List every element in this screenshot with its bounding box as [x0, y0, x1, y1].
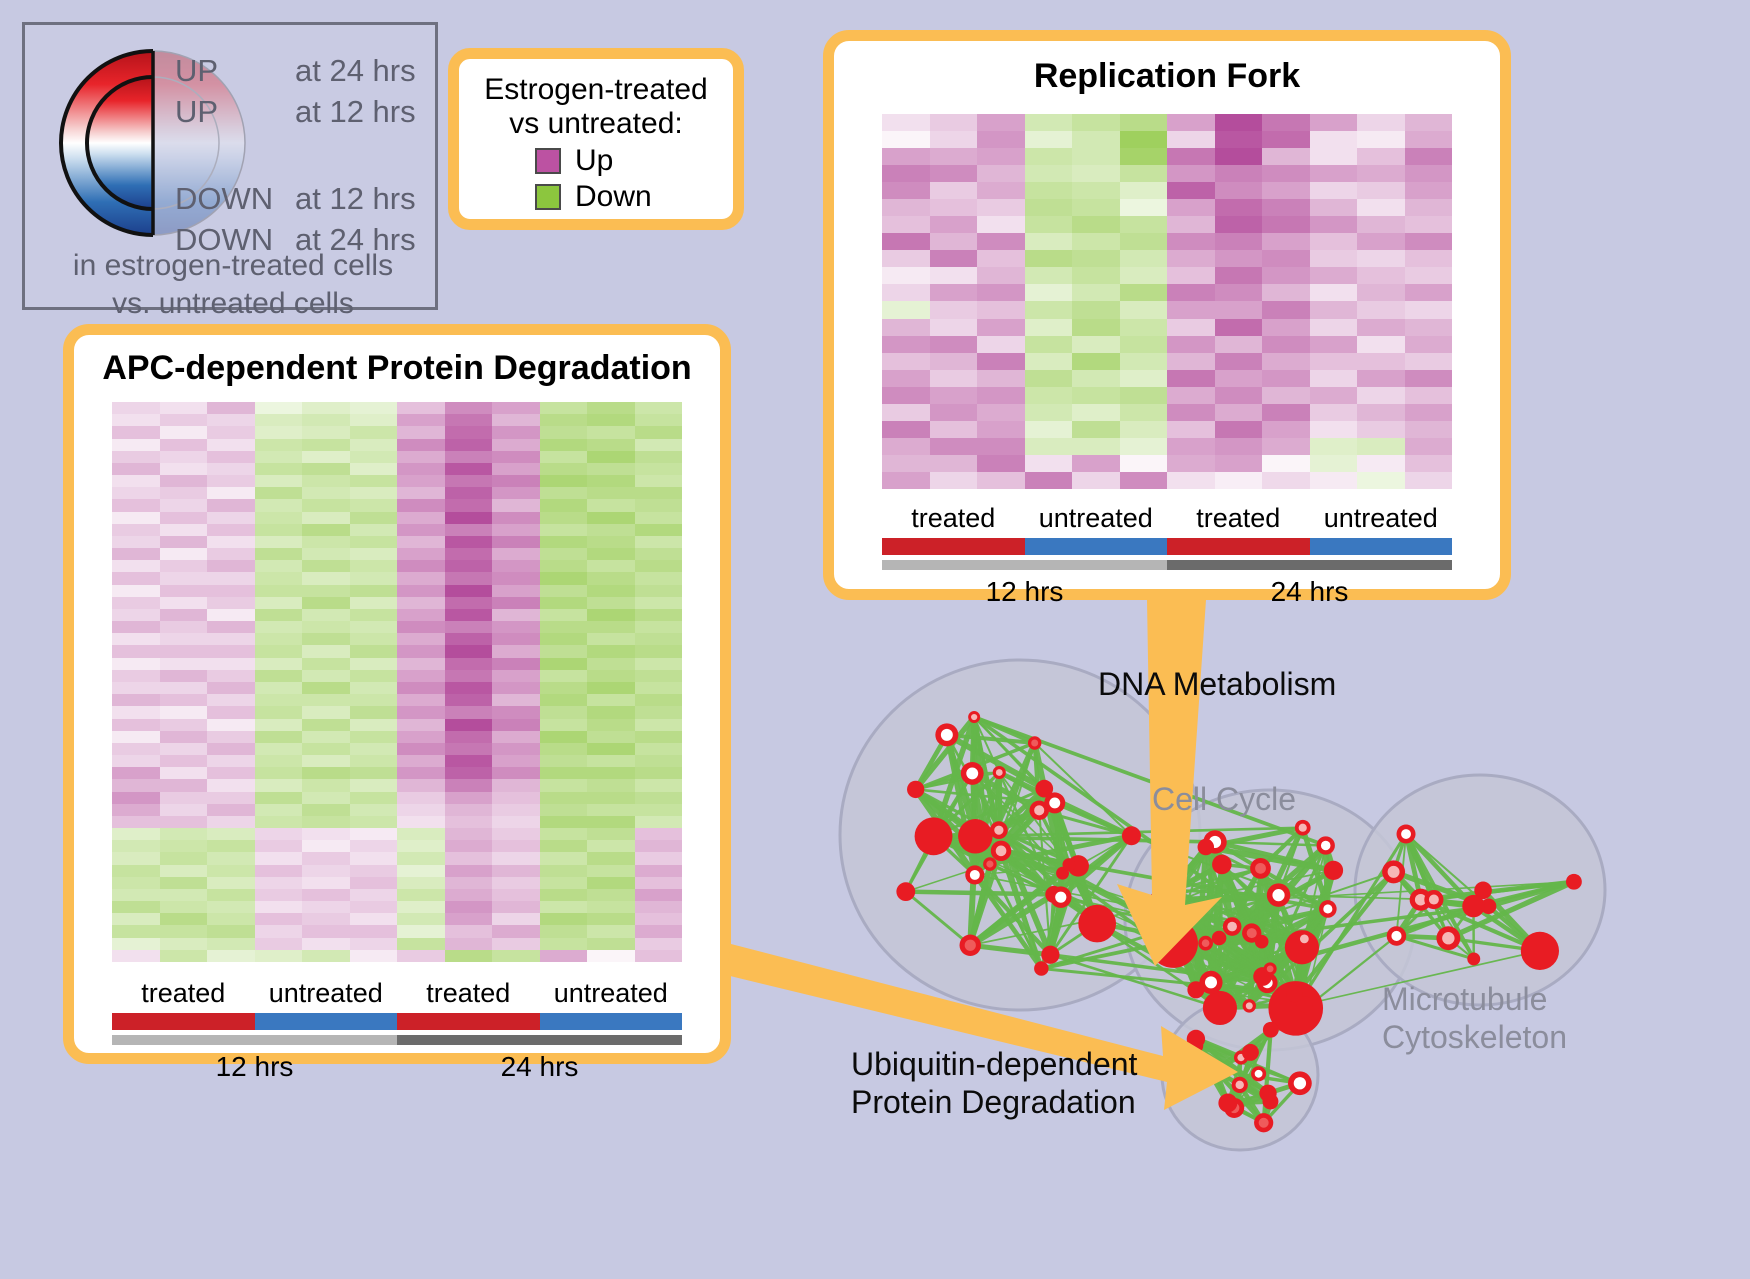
heatmap-cell	[207, 755, 255, 767]
heatmap-cell	[302, 512, 350, 524]
key-row: UP at 24 hrs	[175, 55, 435, 86]
heatmap-cell	[302, 828, 350, 840]
network-node[interactable]	[1397, 825, 1416, 844]
heatmap-cell	[1072, 182, 1120, 199]
heatmap-cell	[1357, 250, 1405, 267]
heatmap-cell	[350, 426, 398, 438]
heatmap-cell	[882, 148, 930, 165]
network-node[interactable]	[1062, 858, 1075, 871]
heatmap-cell	[1405, 472, 1453, 489]
heatmap-cell	[112, 548, 160, 560]
network-node[interactable]	[958, 819, 992, 853]
heatmap-cell	[1215, 319, 1263, 336]
heatmap-cell	[1215, 216, 1263, 233]
network-node[interactable]	[1187, 1030, 1205, 1048]
heatmap-cell	[160, 694, 208, 706]
heatmap-cell	[160, 658, 208, 670]
heatmap-cell	[207, 609, 255, 621]
heatmap-cell	[977, 421, 1025, 438]
heatmap-cell	[1310, 233, 1358, 250]
heatmap-cell	[397, 524, 445, 536]
node-inner-fill	[970, 870, 980, 880]
heatmap-cell	[207, 779, 255, 791]
heatmap-cell	[492, 463, 540, 475]
network-node[interactable]	[1387, 926, 1406, 945]
heatmap-cell	[1357, 199, 1405, 216]
network-node[interactable]	[1041, 946, 1059, 964]
network-node[interactable]	[1319, 900, 1337, 918]
network-node[interactable]	[961, 762, 984, 785]
micro-line-1: Microtubule	[1382, 980, 1567, 1018]
network-node[interactable]	[991, 841, 1011, 861]
apc-annotation: treated untreated treated untreated 12 h…	[112, 978, 682, 1083]
heatmap-cell	[397, 536, 445, 548]
heatmap-cell	[1262, 148, 1310, 165]
heatmap-cell	[540, 548, 588, 560]
network-node[interactable]	[1295, 820, 1311, 836]
heatmap-cell	[112, 524, 160, 536]
heatmap-cell	[160, 938, 208, 950]
heatmap-cell	[540, 426, 588, 438]
heatmap-cell	[1405, 284, 1453, 301]
heatmap-cell	[160, 767, 208, 779]
heatmap-cell	[445, 426, 493, 438]
heatmap-cell	[635, 609, 683, 621]
heatmap-cell	[882, 284, 930, 301]
heatmap-cell	[635, 767, 683, 779]
heatmap-cell	[255, 755, 303, 767]
network-node[interactable]	[1198, 839, 1215, 856]
heatmap-cell	[445, 621, 493, 633]
heatmap-cell	[302, 840, 350, 852]
heatmap-cell	[1025, 131, 1073, 148]
network-node[interactable]	[935, 723, 958, 746]
heatmap-cell	[492, 609, 540, 621]
heatmap-cell	[1167, 336, 1215, 353]
heatmap-cell	[445, 536, 493, 548]
heatmap-cell	[112, 585, 160, 597]
network-node[interactable]	[1203, 991, 1237, 1025]
heatmap-cell	[207, 451, 255, 463]
heatmap-cell	[635, 840, 683, 852]
heatmap-cell	[635, 925, 683, 937]
heatmap-cell	[302, 852, 350, 864]
heatmap-cell	[977, 131, 1025, 148]
heatmap-cell	[882, 370, 930, 387]
heatmap-cell	[255, 426, 303, 438]
heatmap-cell	[1072, 336, 1120, 353]
treatment-color-bar	[882, 538, 1452, 555]
network-node[interactable]	[1436, 926, 1460, 950]
network-node[interactable]	[1296, 930, 1313, 947]
heatmap-cell	[350, 865, 398, 877]
heatmap-cell	[445, 755, 493, 767]
heatmap-cell	[1072, 284, 1120, 301]
heatmap-cell	[350, 877, 398, 889]
heatmap-cell	[882, 267, 930, 284]
network-node[interactable]	[983, 857, 997, 871]
heatmap-cell	[207, 402, 255, 414]
heatmap-cell	[1357, 182, 1405, 199]
heatmap-cell	[397, 670, 445, 682]
heatmap-cell	[930, 284, 978, 301]
heatmap-cell	[1025, 284, 1073, 301]
heatmap-cell	[635, 877, 683, 889]
heatmap-cell	[1120, 284, 1168, 301]
network-node[interactable]	[896, 882, 915, 901]
heatmap-cell	[350, 719, 398, 731]
heatmap-cell	[492, 633, 540, 645]
heatmap-cell	[1215, 182, 1263, 199]
heatmap-cell	[302, 621, 350, 633]
network-node[interactable]	[1317, 836, 1335, 854]
node-inner-fill	[966, 767, 978, 779]
heatmap-cell	[1072, 421, 1120, 438]
heatmap-cell	[492, 572, 540, 584]
heatmap-cell	[540, 499, 588, 511]
heatmap-cell	[1310, 216, 1358, 233]
heatmap-cell	[635, 645, 683, 657]
heatmap-cell	[302, 536, 350, 548]
heatmap-cell	[1120, 455, 1168, 472]
network-node[interactable]	[1521, 932, 1559, 970]
heatmap-cell	[1215, 301, 1263, 318]
heatmap-cell	[1405, 148, 1453, 165]
heatmap-cell	[930, 387, 978, 404]
time-label: 24 hrs	[397, 1051, 682, 1083]
network-edge	[906, 892, 1054, 895]
heatmap-cell	[540, 767, 588, 779]
network-node[interactable]	[1029, 801, 1048, 820]
heatmap-cell	[397, 950, 445, 962]
heatmap-cell	[112, 560, 160, 572]
time-segment	[397, 1035, 682, 1045]
heatmap-cell	[302, 475, 350, 487]
legend-item-up: Up	[535, 146, 733, 176]
legend-item-down: Down	[535, 182, 733, 212]
network-node[interactable]	[1286, 986, 1302, 1002]
heatmap-cell	[587, 451, 635, 463]
network-node[interactable]	[1232, 1077, 1248, 1093]
heatmap-cell	[255, 645, 303, 657]
heatmap-cell	[397, 913, 445, 925]
heatmap-cell	[587, 402, 635, 414]
node-inner-fill	[1401, 829, 1411, 839]
heatmap-cell	[1167, 421, 1215, 438]
network-node[interactable]	[907, 781, 924, 798]
heatmap-cell	[882, 319, 930, 336]
heatmap-cell	[1310, 284, 1358, 301]
key-caption-line-2: vs. untreated cells	[25, 285, 441, 323]
heatmap-cell	[1120, 216, 1168, 233]
heatmap-cell	[445, 451, 493, 463]
heatmap-cell	[302, 682, 350, 694]
network-node[interactable]	[1149, 919, 1198, 968]
heatmap-cell	[302, 487, 350, 499]
heatmap-cell	[587, 755, 635, 767]
heatmap-cell	[302, 877, 350, 889]
heatmap-cell	[492, 439, 540, 451]
network-node[interactable]	[1198, 936, 1213, 951]
heatmap-cell	[930, 165, 978, 182]
heatmap-cell	[302, 950, 350, 962]
network-node[interactable]	[1212, 931, 1227, 946]
key-row: UP at 12 hrs	[175, 96, 435, 127]
heatmap-cell	[1357, 148, 1405, 165]
heatmap-cell	[492, 950, 540, 962]
heatmap-cell	[635, 743, 683, 755]
heatmap-cell	[1357, 284, 1405, 301]
heatmap-cell	[492, 767, 540, 779]
node-inner-fill	[1300, 934, 1309, 943]
heatmap-cell	[207, 852, 255, 864]
cluster-label-dna-metabolism: DNA Metabolism	[1098, 665, 1336, 703]
heatmap-cell	[587, 633, 635, 645]
network-node[interactable]	[1078, 905, 1116, 943]
heatmap-cell	[255, 828, 303, 840]
network-node[interactable]	[1267, 883, 1290, 906]
network-node[interactable]	[1218, 1094, 1237, 1113]
heatmap-cell	[492, 512, 540, 524]
network-node[interactable]	[1028, 736, 1041, 749]
heatmap-cell	[1310, 267, 1358, 284]
node-inner-fill	[1055, 892, 1066, 903]
heatmap-cell	[1167, 370, 1215, 387]
network-node[interactable]	[1288, 1071, 1312, 1095]
heatmap-cell	[1025, 370, 1073, 387]
network-node[interactable]	[1212, 855, 1232, 875]
heatmap-cell	[207, 658, 255, 670]
heatmap-cell	[977, 250, 1025, 267]
heatmap-cell	[587, 877, 635, 889]
heatmap-cell	[977, 472, 1025, 489]
network-node[interactable]	[1122, 826, 1141, 845]
heatmap-cell	[302, 597, 350, 609]
heatmap-cell	[1072, 131, 1120, 148]
network-node[interactable]	[1467, 952, 1480, 965]
heatmap-cell	[207, 560, 255, 572]
cluster-label-ubiquitin-degradation: Ubiquitin-dependent Protein Degradation	[851, 1045, 1137, 1122]
heatmap-cell	[112, 694, 160, 706]
network-node[interactable]	[1034, 961, 1048, 975]
heatmap-cell	[445, 779, 493, 791]
heatmap-cell	[540, 877, 588, 889]
heatmap-cell	[160, 889, 208, 901]
heatmap-cell	[445, 414, 493, 426]
heatmap-cell	[587, 597, 635, 609]
network-node[interactable]	[1242, 1044, 1259, 1061]
heatmap-cell	[207, 670, 255, 682]
heatmap-cell	[882, 250, 930, 267]
heatmap-cell	[397, 706, 445, 718]
heatmap-cell	[1310, 114, 1358, 131]
network-node[interactable]	[960, 935, 981, 956]
heatmap-cell	[635, 439, 683, 451]
heatmap-cell	[1405, 250, 1453, 267]
heatmap-cell	[492, 865, 540, 877]
node-inner-fill	[994, 826, 1003, 835]
heatmap-cell	[1262, 472, 1310, 489]
heatmap-cell	[112, 682, 160, 694]
heatmap-cell	[160, 828, 208, 840]
heatmap-cell	[350, 414, 398, 426]
heatmap-cell	[445, 889, 493, 901]
node-inner-fill	[1259, 1118, 1269, 1128]
ubi-line-1: Ubiquitin-dependent	[851, 1045, 1137, 1083]
heatmap-cell	[112, 487, 160, 499]
heatmap-cell	[1025, 301, 1073, 318]
heatmap-cell	[540, 828, 588, 840]
node-inner-fill	[996, 769, 1003, 776]
network-node[interactable]	[1223, 917, 1242, 936]
heatmap-cell	[112, 451, 160, 463]
apc-title: APC-dependent Protein Degradation	[74, 349, 720, 388]
heatmap-cell	[587, 499, 635, 511]
heatmap-cell	[445, 670, 493, 682]
network-node[interactable]	[915, 817, 953, 855]
network-node[interactable]	[965, 865, 984, 884]
node-inner-fill	[1323, 904, 1332, 913]
heatmap-cell	[635, 597, 683, 609]
heatmap-cell	[350, 950, 398, 962]
heatmap-cell	[397, 877, 445, 889]
heatmap-cell	[207, 414, 255, 426]
heatmap-cell	[1357, 387, 1405, 404]
heatmap-cell	[112, 512, 160, 524]
heatmap-cell	[445, 402, 493, 414]
cluster-label-cell-cycle: Cell Cycle	[1152, 780, 1296, 818]
heatmap-cell	[160, 877, 208, 889]
heatmap-cell	[635, 463, 683, 475]
heatmap-cell	[1072, 216, 1120, 233]
heatmap-cell	[1167, 353, 1215, 370]
network-node[interactable]	[1462, 895, 1484, 917]
network-node[interactable]	[1254, 1113, 1273, 1132]
network-node[interactable]	[968, 711, 980, 723]
heatmap-cell	[540, 889, 588, 901]
network-node[interactable]	[1251, 1066, 1266, 1081]
heatmap-cell	[112, 950, 160, 962]
network-node[interactable]	[1250, 858, 1271, 879]
network-node[interactable]	[1243, 999, 1256, 1012]
heatmap-cell	[112, 645, 160, 657]
heatmap-cell	[255, 402, 303, 414]
heatmap-cell	[1357, 455, 1405, 472]
network-node[interactable]	[993, 766, 1006, 779]
node-inner-fill	[1429, 895, 1439, 905]
heatmap-cell	[302, 925, 350, 937]
network-node[interactable]	[1255, 935, 1269, 949]
network-node[interactable]	[990, 821, 1008, 839]
heatmap-cell	[397, 499, 445, 511]
heatmap-cell	[1262, 438, 1310, 455]
treatment-segment	[1310, 538, 1453, 555]
heatmap-cell	[977, 165, 1025, 182]
heatmap-cell	[397, 402, 445, 414]
heatmap-cell	[1167, 182, 1215, 199]
heatmap-cell	[1025, 353, 1073, 370]
heatmap-cell	[302, 585, 350, 597]
network-node[interactable]	[1208, 1063, 1223, 1078]
heatmap-cell	[207, 913, 255, 925]
heatmap-cell	[207, 950, 255, 962]
heatmap-cell	[1215, 472, 1263, 489]
heatmap-cell	[540, 925, 588, 937]
heatmap-cell	[635, 694, 683, 706]
node-inner-fill	[1034, 805, 1044, 815]
heatmap-cell	[397, 865, 445, 877]
heatmap-cell	[492, 658, 540, 670]
network-node[interactable]	[1050, 886, 1072, 908]
network-node[interactable]	[1382, 860, 1405, 883]
heatmap-cell	[1357, 370, 1405, 387]
heatmap-cell	[350, 889, 398, 901]
heatmap-cell	[635, 548, 683, 560]
heatmap-cell	[445, 609, 493, 621]
heatmap-cell	[1357, 301, 1405, 318]
network-node[interactable]	[1149, 891, 1169, 911]
heatmap-cell	[207, 463, 255, 475]
heatmap-cell	[587, 585, 635, 597]
heatmap-cell	[397, 548, 445, 560]
network-node[interactable]	[1566, 874, 1582, 890]
heatmap-cell	[255, 682, 303, 694]
time-label: 12 hrs	[882, 576, 1167, 608]
heatmap-cell	[1120, 250, 1168, 267]
network-node[interactable]	[1424, 890, 1443, 909]
heatmap-cell	[302, 451, 350, 463]
treatment-segment	[1167, 538, 1310, 555]
heatmap-cell	[397, 560, 445, 572]
heatmap-cell	[255, 475, 303, 487]
heatmap-cell	[445, 950, 493, 962]
heatmap-cell	[160, 439, 208, 451]
network-node[interactable]	[1263, 1022, 1279, 1038]
heatmap-cell	[540, 852, 588, 864]
heatmap-cell	[492, 560, 540, 572]
treatment-segment	[397, 1013, 540, 1030]
heatmap-cell	[350, 767, 398, 779]
heatmap-cell	[160, 645, 208, 657]
sample-label: treated	[397, 978, 540, 1009]
heatmap-cell	[207, 645, 255, 657]
heatmap-cell	[255, 560, 303, 572]
heatmap-cell	[160, 816, 208, 828]
heatmap-cell	[1405, 319, 1453, 336]
heatmap-cell	[492, 938, 540, 950]
heatmap-cell	[160, 804, 208, 816]
heatmap-cell	[350, 755, 398, 767]
heatmap-cell	[1025, 421, 1073, 438]
heatmap-cell	[1025, 267, 1073, 284]
heatmap-cell	[587, 743, 635, 755]
heatmap-cell	[397, 463, 445, 475]
heatmap-cell	[255, 451, 303, 463]
network-node[interactable]	[1324, 861, 1343, 880]
heatmap-cell	[635, 426, 683, 438]
network-node[interactable]	[1259, 1085, 1276, 1102]
heatmap-cell	[255, 499, 303, 511]
heatmap-cell	[587, 938, 635, 950]
network-node[interactable]	[1264, 962, 1277, 975]
heatmap-cell	[350, 828, 398, 840]
heatmap-cell	[160, 536, 208, 548]
heatmap-cell	[207, 475, 255, 487]
heatmap-cell	[492, 816, 540, 828]
node-inner-fill	[1227, 922, 1237, 932]
network-node[interactable]	[1199, 971, 1222, 994]
heatmap-cell	[302, 609, 350, 621]
